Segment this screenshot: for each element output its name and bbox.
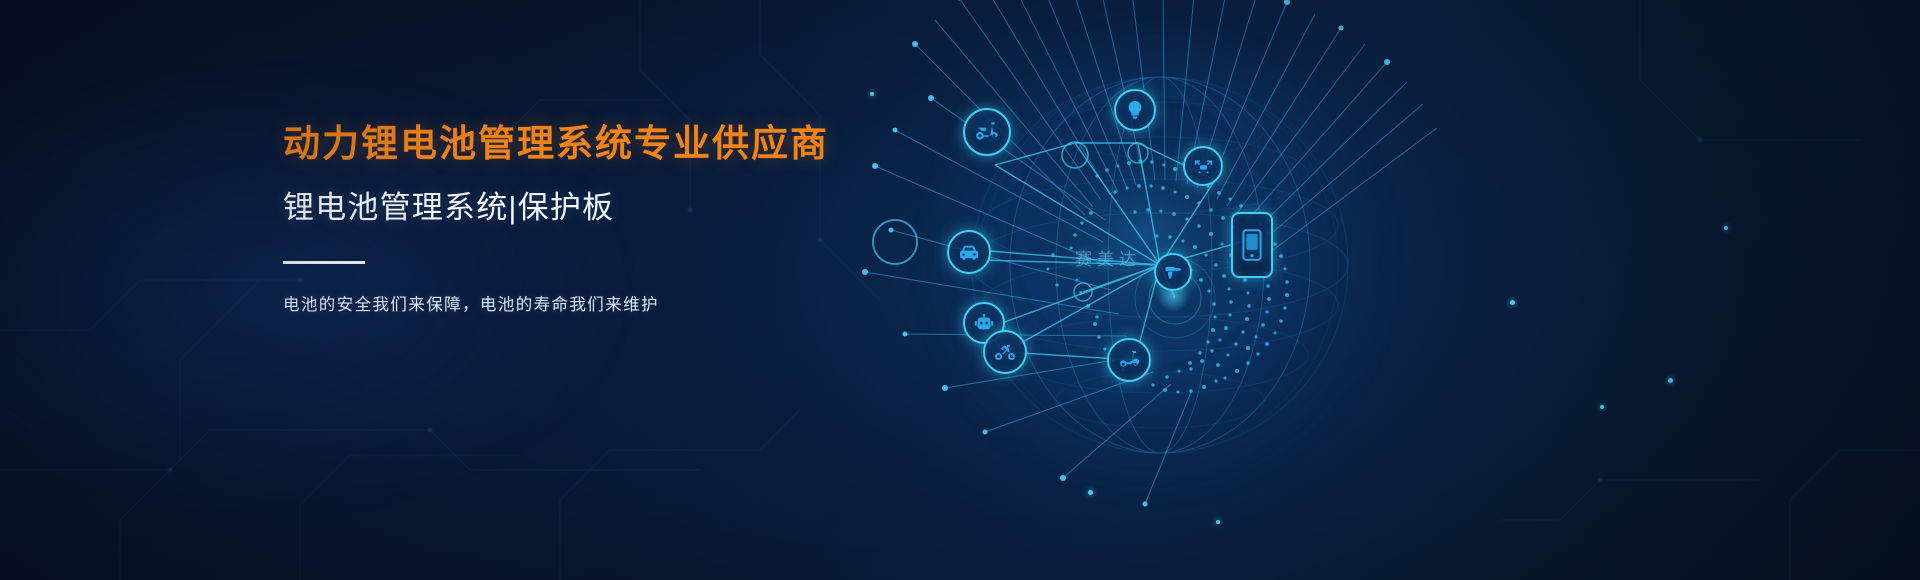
globe-watermark: 赛美达	[1013, 245, 1203, 270]
spark-dot	[1668, 378, 1673, 383]
spark-dot	[1216, 520, 1220, 524]
node-scooter	[963, 108, 1011, 156]
node-car	[947, 230, 991, 274]
ebike-icon	[993, 340, 1017, 364]
node-scooter-2	[1107, 338, 1151, 382]
hero-banner: 动力锂电池管理系统专业供应商 锂电池管理系统|保护板 电池的安全我们来保障，电池…	[0, 0, 1920, 580]
spark-dot	[870, 92, 874, 96]
phone-icon	[1242, 229, 1262, 261]
network-globe-graphic: 赛美达	[835, 0, 1475, 580]
node-phone	[1231, 212, 1273, 278]
divider-rule	[283, 261, 365, 264]
lightbulb-icon	[1124, 99, 1146, 121]
spark-dot	[1088, 490, 1093, 495]
car-icon	[957, 240, 981, 264]
spark-dot	[1724, 226, 1728, 230]
node-drone	[1183, 146, 1223, 186]
spark-dot	[1600, 405, 1604, 409]
scooter-icon	[974, 119, 1000, 145]
spark-dot	[1510, 300, 1515, 305]
scooter-icon	[1117, 348, 1141, 372]
node-ebike	[983, 330, 1027, 374]
globe-svg	[835, 0, 1475, 580]
drone-icon	[1193, 156, 1214, 177]
node-lightbulb	[1114, 89, 1156, 131]
robot-icon	[973, 312, 995, 334]
